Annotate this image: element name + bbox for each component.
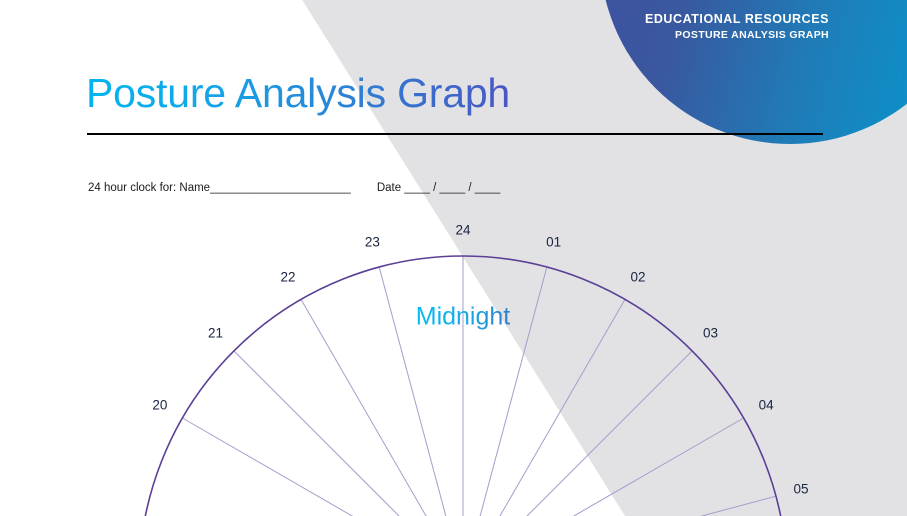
form-date-blank-3[interactable]: ____ [475,182,501,194]
form-date-sep-1: / [433,182,436,194]
clock-spoke [463,299,625,516]
form-line: 24 hour clock for: Name_________________… [88,182,500,194]
clock-spoke [234,351,463,516]
clock-hour-label-24: 24 [455,223,470,238]
document-page: EDUCATIONAL RESOURCES POSTURE ANALYSIS G… [0,0,907,516]
midnight-label: Midnight [416,303,511,332]
header-line-2: POSTURE ANALYSIS GRAPH [645,28,829,43]
clock-hour-label-03: 03 [703,325,718,340]
clock-hour-label-02: 02 [630,269,645,284]
form-name-blank[interactable]: ______________________ [210,182,351,194]
clock-hour-label-22: 22 [280,269,295,284]
clock-spoke [301,299,463,516]
form-date-blank-2[interactable]: ____ [440,182,466,194]
clock-hour-label-01: 01 [546,234,561,249]
form-date-label: Date [377,182,401,194]
form-date-sep-2: / [468,182,471,194]
header-line-1: EDUCATIONAL RESOURCES [645,10,829,28]
form-name-prefix: 24 hour clock for: Name [88,182,210,194]
clock-spoke [182,418,463,516]
title-divider [87,133,823,135]
clock-spoke [463,418,744,516]
clock-hour-label-23: 23 [365,234,380,249]
page-title: Posture Analysis Graph [86,70,510,117]
clock-hour-label-05: 05 [794,482,809,497]
clock-hour-label-21: 21 [208,325,223,340]
header-label-block: EDUCATIONAL RESOURCES POSTURE ANALYSIS G… [645,10,829,43]
form-date-blank-1[interactable]: ____ [404,182,430,194]
clock-spoke [463,351,692,516]
clock-hour-label-20: 20 [152,398,167,413]
clock-hour-label-04: 04 [759,398,774,413]
